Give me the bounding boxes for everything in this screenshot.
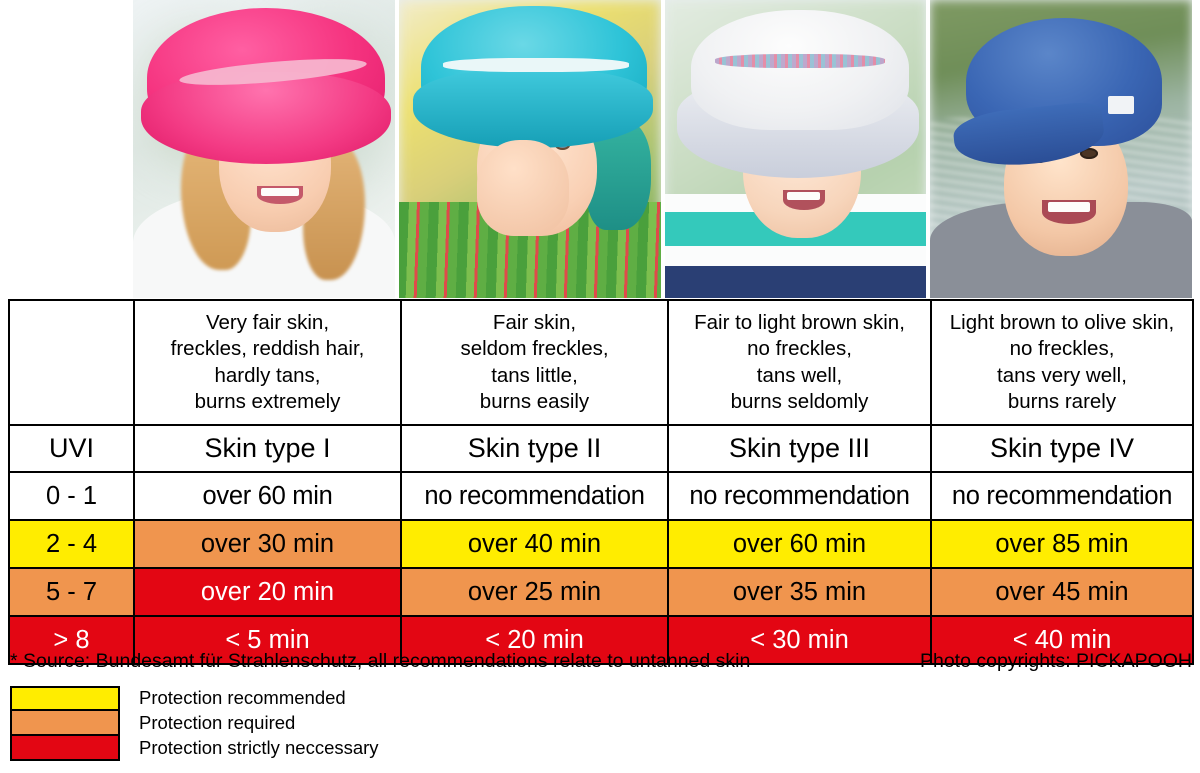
table-row: 2 - 4 over 30 min over 40 min over 60 mi… [9,520,1193,568]
photo-copyright: Photo copyrights: PICKAPOOH [920,650,1192,673]
grey-sun-hat [691,10,909,130]
legend-label-recommended: Protection recommended [139,689,346,708]
teeth [1048,202,1090,212]
hat-stripe [443,58,629,72]
recommendation-2-4-type-1: over 30 min [134,520,401,568]
photo-strip [133,0,1192,298]
photo-boy-blue-cap [930,0,1192,298]
teeth [261,188,299,196]
skin-type-header-2: Skin type II [401,425,668,472]
skin-type-header-1: Skin type I [134,425,401,472]
raised-arm [477,140,569,236]
hat-brim [141,72,391,164]
skin-description-2: Fair skin,seldom freckles,tans little,bu… [401,300,668,425]
brand-tag [1108,96,1134,114]
legend-label-strictly-necessary: Protection strictly neccessary [139,739,379,758]
recommendation-0-1-type-2: no recommendation [401,472,668,520]
recommendation-0-1-type-3: no recommendation [668,472,931,520]
recommendation-2-4-type-4: over 85 min [931,520,1193,568]
uvi-range-2-4: 2 - 4 [9,520,134,568]
legend-swatch-red [10,736,120,761]
skin-description-1: Very fair skin,freckles, reddish hair,ha… [134,300,401,425]
skin-description-row: Very fair skin,freckles, reddish hair,ha… [9,300,1193,425]
table-row: 0 - 1 over 60 min no recommendation no r… [9,472,1193,520]
uvi-header: UVI [9,425,134,472]
legend-label-required: Protection required [139,714,295,733]
recommendation-5-7-type-4: over 45 min [931,568,1193,616]
skin-type-header-row: UVI Skin type I Skin type II Skin type I… [9,425,1193,472]
skin-type-header-3: Skin type III [668,425,931,472]
recommendation-0-1-type-1: over 60 min [134,472,401,520]
hat-band [715,54,885,68]
photo-girl-pink-hat [133,0,395,298]
legend-item-recommended: Protection recommended [10,686,379,711]
footer-note: * Source: Bundesamt für Strahlenschutz, … [10,650,1192,673]
legend-swatch-orange [10,711,120,736]
legend-swatch-yellow [10,686,120,711]
legend-item-required: Protection required [10,711,379,736]
photo-toddler-turquoise-hat [399,0,661,298]
recommendation-0-1-type-4: no recommendation [931,472,1193,520]
recommendation-5-7-type-3: over 35 min [668,568,931,616]
recommendation-5-7-type-2: over 25 min [401,568,668,616]
shirt-stripe-navy [665,266,927,298]
teeth [787,192,820,200]
table-row: 5 - 7 over 20 min over 25 min over 35 mi… [9,568,1193,616]
legend: Protection recommended Protection requir… [10,686,379,761]
recommendation-5-7-type-1: over 20 min [134,568,401,616]
uvi-range-5-7: 5 - 7 [9,568,134,616]
source-note: * Source: Bundesamt für Strahlenschutz, … [10,650,750,673]
corner-cell-empty [9,300,134,425]
skin-description-3: Fair to light brown skin,no freckles,tan… [668,300,931,425]
uv-index-skin-type-table: Very fair skin,freckles, reddish hair,ha… [8,299,1194,665]
skin-type-header-4: Skin type IV [931,425,1193,472]
photo-boy-grey-hat [665,0,927,298]
hat-brim [413,70,653,148]
recommendation-2-4-type-3: over 60 min [668,520,931,568]
skin-description-4: Light brown to olive skin,no freckles,ta… [931,300,1193,425]
uvi-range-0-1: 0 - 1 [9,472,134,520]
recommendation-2-4-type-2: over 40 min [401,520,668,568]
legend-item-strictly-necessary: Protection strictly neccessary [10,736,379,761]
